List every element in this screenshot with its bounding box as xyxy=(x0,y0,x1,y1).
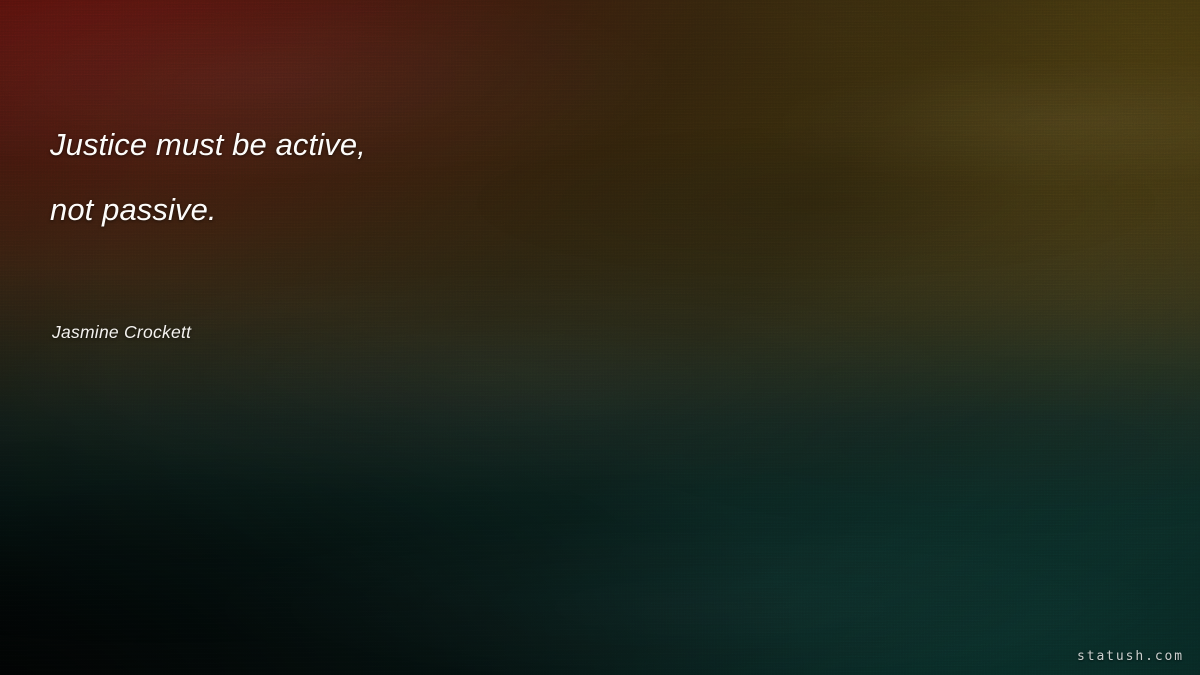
quote-author: Jasmine Crockett xyxy=(52,320,191,344)
site-watermark: statush.com xyxy=(1077,648,1184,666)
quote-text-block: Justice must be active, not passive. xyxy=(50,112,830,242)
quote-line-1: Justice must be active, xyxy=(50,112,830,177)
quote-card: Justice must be active, not passive. Jas… xyxy=(0,0,1200,675)
quote-line-2: not passive. xyxy=(50,177,830,242)
